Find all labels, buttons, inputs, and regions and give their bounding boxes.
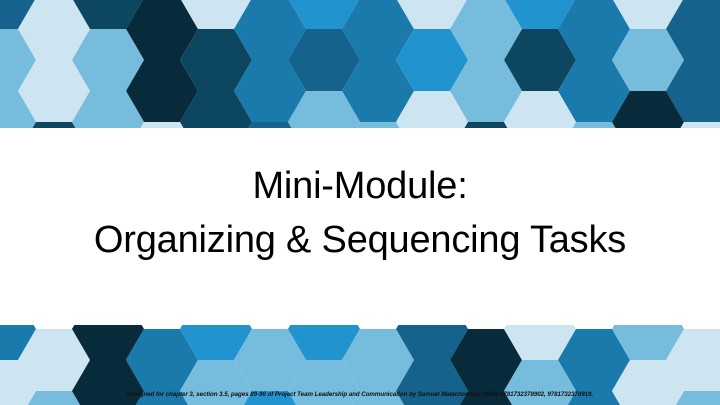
hexagon-tile — [234, 0, 306, 60]
hexagon-tile — [72, 360, 144, 405]
hexagon-tile — [612, 325, 684, 360]
hexagon-tile — [396, 0, 468, 29]
hexagon-tile — [612, 29, 684, 91]
hexagon-tile — [288, 0, 360, 29]
hexagon-tile — [72, 91, 144, 128]
hexagon-tile — [666, 60, 720, 122]
hexagon-tile — [450, 60, 522, 122]
hexagon-pattern-top-svg — [0, 0, 720, 128]
hexagon-tile — [126, 329, 198, 391]
hexagon-tile — [450, 0, 522, 60]
hexagon-tile — [0, 29, 36, 91]
hexagon-tile — [288, 360, 360, 405]
page-title: Mini-Module: Organizing & Sequencing Tas… — [0, 160, 720, 268]
hexagon-tile — [504, 360, 576, 405]
hexagon-tile — [504, 0, 576, 29]
hexagon-tile — [558, 122, 630, 128]
hexagon-tile — [126, 0, 198, 60]
hexagon-tile — [234, 122, 306, 128]
hexagon-tile — [180, 29, 252, 91]
hexagon-tile — [504, 29, 576, 91]
hexagon-tile — [18, 0, 90, 60]
hexagon-pattern-top — [0, 0, 720, 128]
hexagon-tile — [234, 329, 306, 391]
hexagon-tile — [0, 91, 36, 128]
hexagon-tile — [396, 325, 468, 360]
hexagon-tile — [0, 0, 36, 29]
hexagon-tile — [288, 325, 360, 360]
hexagon-tile — [558, 60, 630, 122]
hexagon-tile — [126, 60, 198, 122]
hexagon-tile — [612, 91, 684, 128]
hexagon-tile — [396, 91, 468, 128]
hexagon-tile — [180, 91, 252, 128]
hexagon-tile — [612, 360, 684, 405]
hexagon-tile — [396, 360, 468, 405]
hexagon-tile — [342, 329, 414, 391]
hexagon-tile — [504, 325, 576, 360]
hexagon-tile — [180, 325, 252, 360]
hexagon-tile — [504, 91, 576, 128]
hexagon-tile — [666, 0, 720, 60]
hexagon-tile — [558, 0, 630, 60]
hexagon-tile — [0, 325, 36, 360]
hexagon-tile — [180, 360, 252, 405]
hexagon-tile — [342, 60, 414, 122]
hexagon-tile — [288, 91, 360, 128]
hexagon-tile — [234, 60, 306, 122]
hexagon-tile — [612, 0, 684, 29]
hexagon-tile — [18, 60, 90, 122]
title-line-2: Organizing & Sequencing Tasks — [0, 214, 720, 268]
hexagon-tile — [180, 0, 252, 29]
hexagon-tile — [72, 29, 144, 91]
hexagon-tile — [18, 329, 90, 391]
hexagon-tile — [126, 122, 198, 128]
hexagon-tile — [558, 329, 630, 391]
hexagon-tile — [72, 0, 144, 29]
footer-attribution-caption: Designed for chapter 3, section 3.5, pag… — [0, 392, 720, 398]
title-line-1: Mini-Module: — [0, 160, 720, 214]
hexagon-tile — [342, 122, 414, 128]
slide-canvas: Mini-Module: Organizing & Sequencing Tas… — [0, 0, 720, 405]
hexagon-tile — [396, 29, 468, 91]
hexagon-tile — [666, 122, 720, 128]
hexagon-tile — [450, 329, 522, 391]
hexagon-tile — [288, 29, 360, 91]
hexagon-tile — [342, 0, 414, 60]
hexagon-tile — [450, 122, 522, 128]
hexagon-tile — [0, 360, 36, 405]
hexagon-tile — [18, 122, 90, 128]
hexagon-tile — [666, 329, 720, 391]
hexagon-tile — [72, 325, 144, 360]
